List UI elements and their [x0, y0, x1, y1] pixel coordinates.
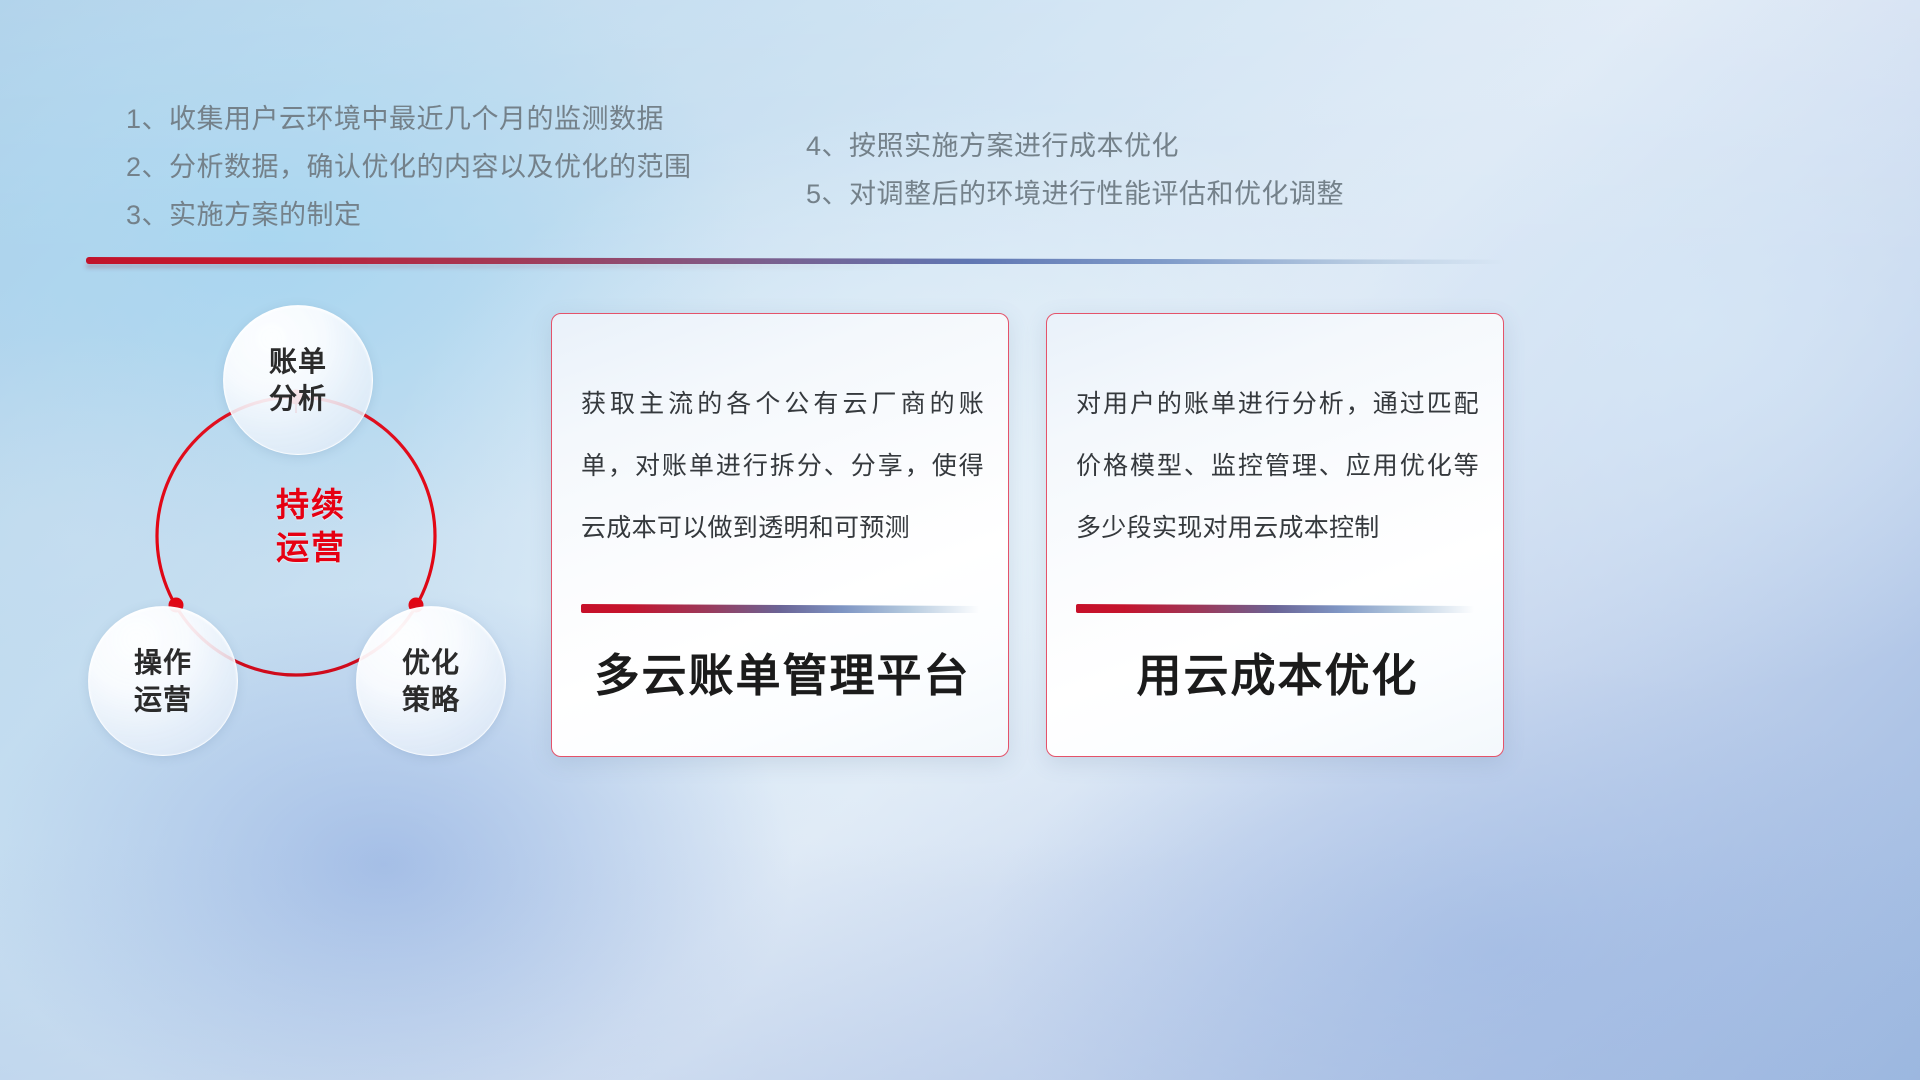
- step-item-1: 1、收集用户云环境中最近几个月的监测数据: [126, 95, 692, 143]
- card-cloud-cost-optimization[interactable]: 对用户的账单进行分析，通过匹配价格模型、监控管理、应用优化等多少段实现对用云成本…: [1046, 313, 1504, 757]
- step-item-5: 5、对调整后的环境进行性能评估和优化调整: [806, 170, 1344, 218]
- step-item-4: 4、按照实施方案进行成本优化: [806, 122, 1344, 170]
- venn-bubble-left-label: 操作运营: [134, 644, 192, 718]
- venn-bubble-optimization-strategy[interactable]: 优化策略: [356, 606, 506, 756]
- step-item-3: 3、实施方案的制定: [126, 191, 692, 239]
- venn-bubble-billing-analysis[interactable]: 账单分析: [223, 305, 373, 455]
- divider-shadow: [86, 264, 1286, 268]
- venn-bubble-right-label: 优化策略: [402, 644, 460, 718]
- steps-right-column: 4、按照实施方案进行成本优化 5、对调整后的环境进行性能评估和优化调整: [806, 122, 1344, 218]
- venn-bubble-operations[interactable]: 操作运营: [88, 606, 238, 756]
- steps-section: 1、收集用户云环境中最近几个月的监测数据 2、分析数据，确认优化的内容以及优化的…: [0, 0, 1920, 250]
- venn-center-label: 持续运营: [236, 483, 386, 569]
- venn-diagram: 账单分析 操作运营 优化策略 持续运营: [84, 288, 534, 768]
- steps-left-column: 1、收集用户云环境中最近几个月的监测数据 2、分析数据，确认优化的内容以及优化的…: [126, 95, 692, 239]
- card-2-body: 对用户的账单进行分析，通过匹配价格模型、监控管理、应用优化等多少段实现对用云成本…: [1076, 373, 1479, 559]
- card-1-accent-bar: [581, 604, 979, 613]
- venn-bubble-top-label: 账单分析: [269, 343, 327, 417]
- card-2-accent-bar: [1076, 604, 1474, 613]
- step-item-2: 2、分析数据，确认优化的内容以及优化的范围: [126, 143, 692, 191]
- card-2-title: 用云成本优化: [1076, 647, 1479, 705]
- card-multicloud-billing-platform[interactable]: 获取主流的各个公有云厂商的账单，对账单进行拆分、分享，使得云成本可以做到透明和可…: [551, 313, 1009, 757]
- card-1-title: 多云账单管理平台: [581, 647, 984, 705]
- card-1-body: 获取主流的各个公有云厂商的账单，对账单进行拆分、分享，使得云成本可以做到透明和可…: [581, 373, 984, 559]
